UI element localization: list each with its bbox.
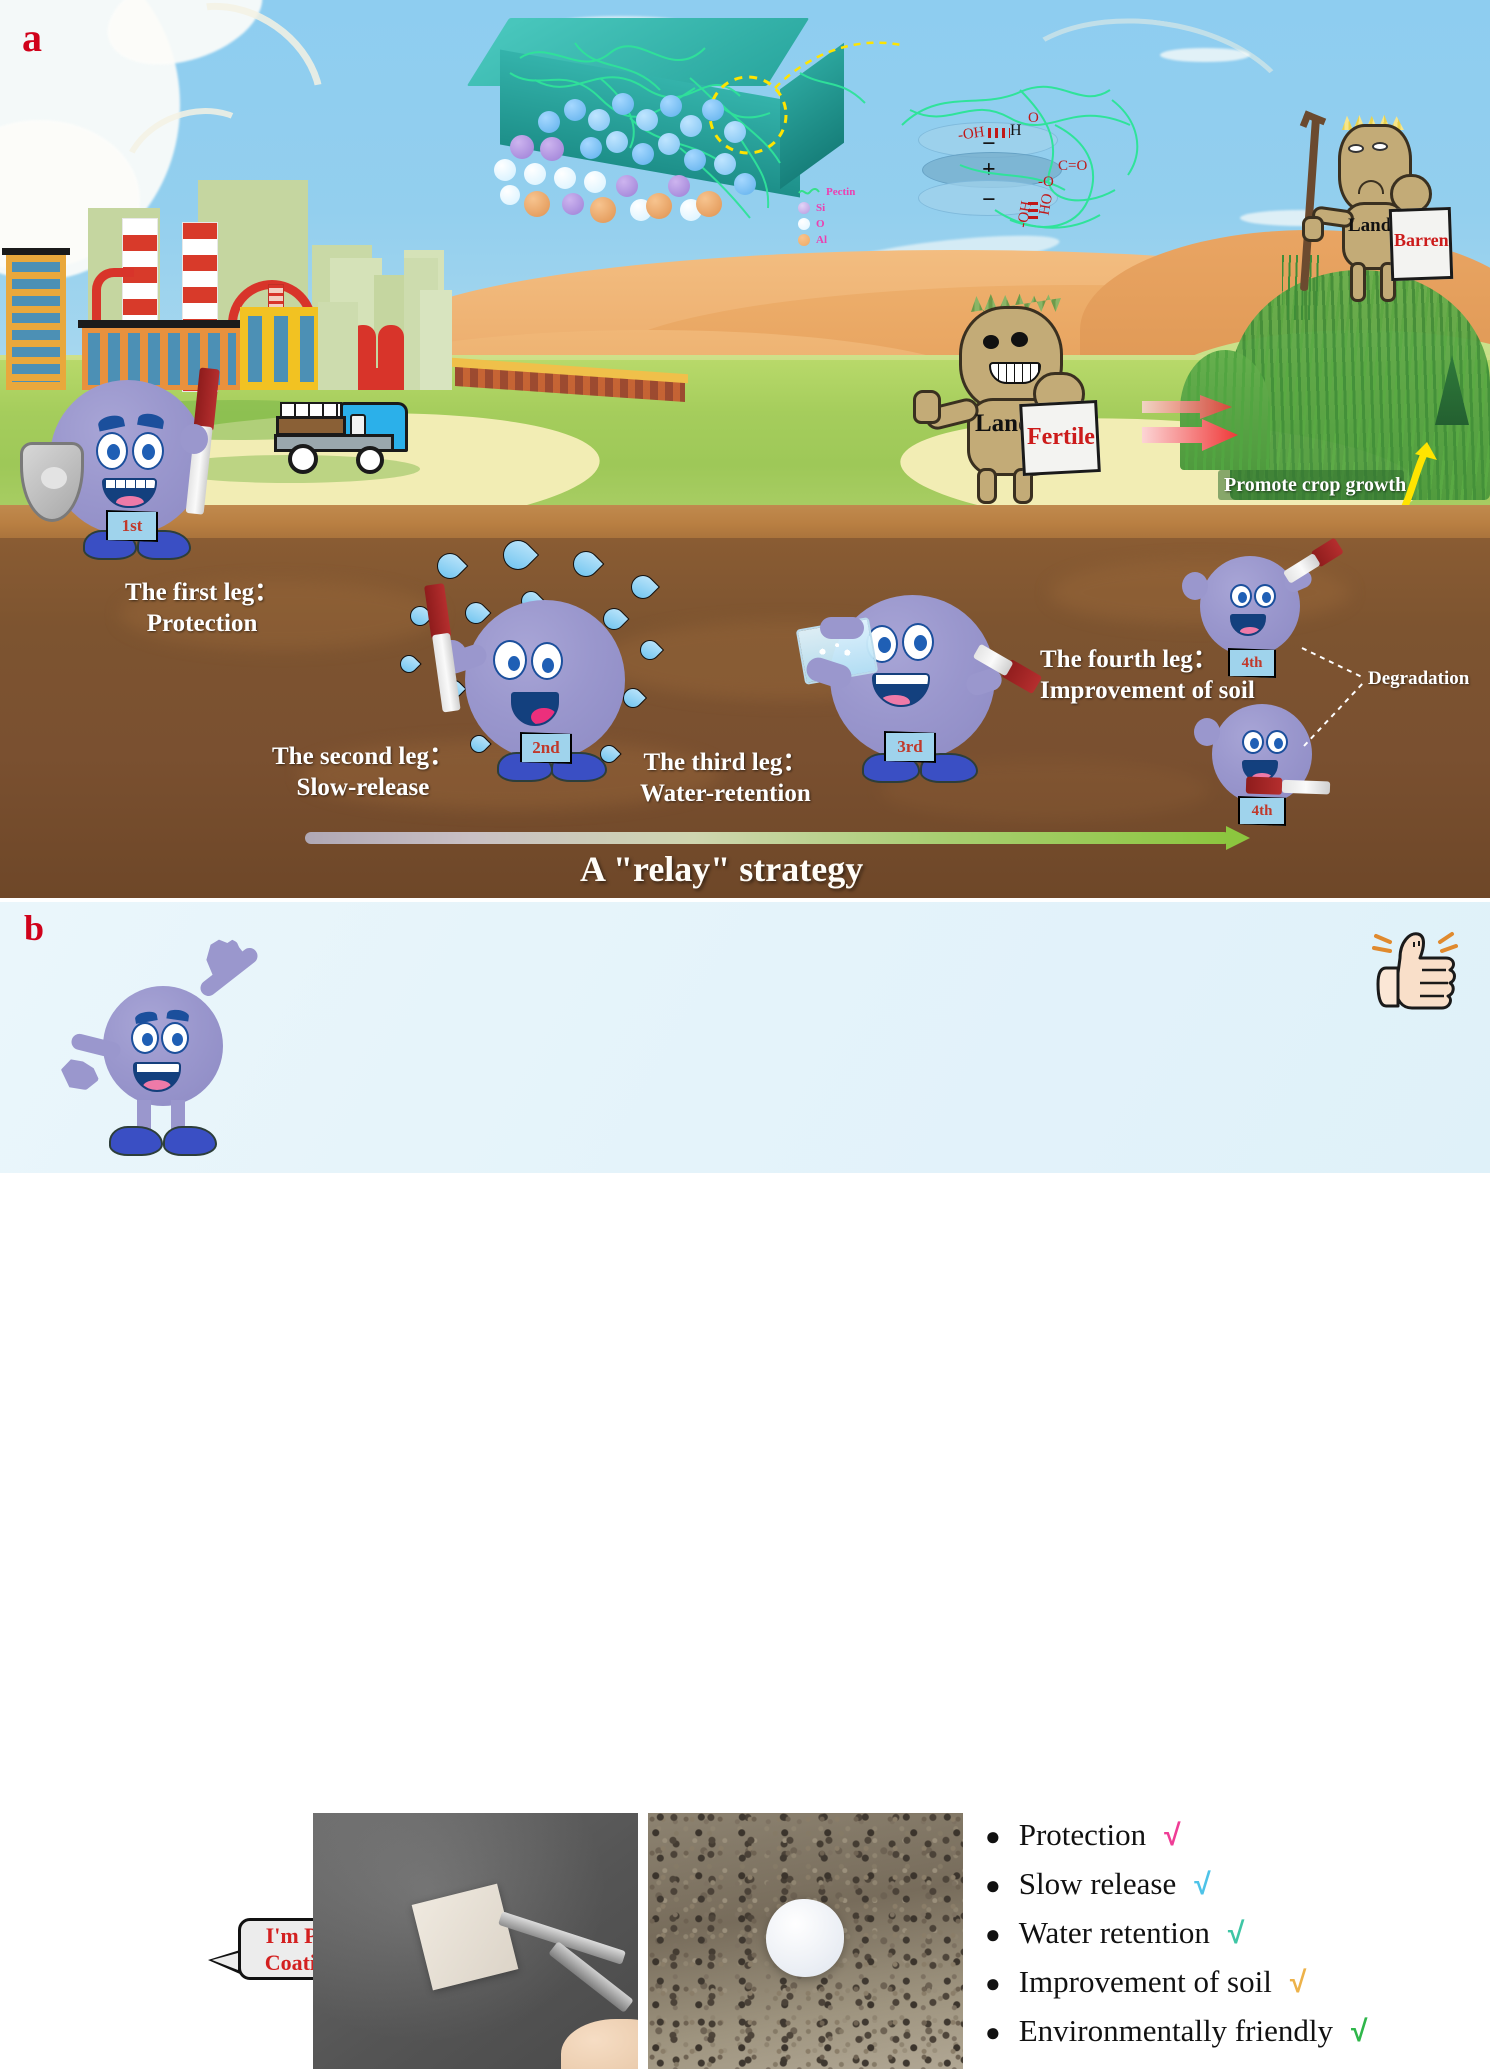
leg-flag-1st: 1st: [106, 510, 158, 542]
thumbs-up-svg: [1360, 922, 1470, 1032]
truck-cargo-boxes: [280, 402, 342, 418]
legend-row-al: Al: [798, 234, 827, 246]
mascot-pupil-left: [878, 637, 891, 653]
fertile-thumbs-up-hand: [913, 390, 941, 424]
fertile-eye-left: [983, 335, 999, 349]
speech-bubble-tail-inner: [212, 1953, 238, 1970]
legend-label-si: Si: [816, 202, 825, 214]
mascot-tongue: [531, 708, 557, 726]
pectin-montmorillonite-block: Pectin Si O Al: [480, 18, 900, 268]
feature-label: Slow release: [1019, 1866, 1177, 1902]
chem-label-h: H: [1010, 122, 1022, 140]
circle-orange-icon: [798, 234, 810, 246]
panel-b: b I'm PM Coating: [0, 900, 1490, 1173]
mascot-pupil-right: [1262, 592, 1271, 603]
degradation-connector: [1300, 630, 1420, 760]
barren-hand-left: [1302, 216, 1324, 242]
inset-pectin-svg: [900, 70, 1150, 260]
atom-cluster: [480, 63, 770, 243]
barren-leg-left: [1350, 262, 1366, 302]
fertilizer-pen-icon-broken: [1246, 777, 1333, 798]
feature-label: Protection: [1019, 1817, 1146, 1853]
coated-granule-soil-photo: [648, 1813, 963, 2069]
relay-strategy-title: A "relay" strategy: [580, 848, 863, 890]
mascot-pupil-left: [508, 656, 520, 671]
check-icon: √: [1351, 2015, 1367, 2049]
shield-emblem: [41, 467, 67, 489]
second-leg-line1: The second leg：: [272, 742, 454, 773]
mascot-pm-coating: [55, 934, 295, 1169]
cloud-right-1: [1160, 48, 1250, 62]
barren-sign-text: Barren: [1394, 230, 1449, 251]
skyline-pale-3: [420, 290, 452, 390]
fertile-eye-right: [1011, 332, 1028, 347]
building-yellow-windows: [12, 262, 60, 382]
building-yellow-roof: [2, 248, 70, 255]
pink-transition-arrows: [1140, 395, 1260, 465]
mascot-teeth: [106, 480, 157, 488]
barren-staff: [1300, 116, 1320, 291]
mascot-pupil-right: [142, 444, 155, 460]
coating-film-tweezers-photo: [313, 1813, 638, 2069]
mascot-shoe-left: [109, 1126, 163, 1156]
leg-flag-3rd: 3rd: [884, 731, 936, 763]
second-leg-label: The second leg： Slow-release: [272, 742, 454, 803]
land-fertile-character: Land Fertile: [905, 290, 1135, 505]
chem-hbond-dashes: [988, 128, 1010, 138]
list-item: ● Improvement of soil √: [985, 1964, 1367, 2013]
feature-label: Water retention: [1019, 1915, 1210, 1951]
delivery-truck: [252, 394, 412, 476]
chem-label-o-lower: -O: [1038, 174, 1054, 191]
mascot-thumbs-up-hand: [1194, 718, 1220, 746]
mascot-pupil-left: [1238, 592, 1247, 603]
list-item: ● Environmentally friendly √: [985, 2013, 1367, 2062]
bullet-icon: ●: [985, 1873, 1001, 1899]
feature-label: Environmentally friendly: [1019, 2013, 1333, 2049]
mascot-pupil-left: [1250, 738, 1259, 749]
mascot-hand-left: [61, 1056, 99, 1090]
relay-arrow-bar: [305, 832, 1230, 844]
circle-white-icon: [798, 218, 810, 230]
bullet-icon: ●: [985, 1922, 1001, 1948]
mascot-pupil-left: [142, 1033, 153, 1046]
mascot-pupil-right: [172, 1033, 183, 1046]
thumbs-up-icon: [1360, 922, 1470, 1032]
check-icon: √: [1290, 1966, 1306, 2000]
mascot-pupil-right: [914, 635, 927, 651]
mascot-third-leg: 3rd: [780, 595, 1020, 800]
list-item: ● Water retention √: [985, 1915, 1367, 1964]
mascot-pupil-left: [107, 444, 120, 460]
relay-arrow-head: [1226, 826, 1250, 850]
first-leg-label: The first leg： Protection: [125, 578, 279, 639]
second-leg-line2: Slow-release: [272, 773, 454, 804]
legend-row-pectin: Pectin: [798, 186, 855, 198]
leg-flag-4th-lower: 4th: [1238, 796, 1286, 826]
panel-a-letter: a: [22, 18, 42, 58]
truck-wheel-rear: [288, 444, 318, 474]
first-leg-line1: The first leg：: [125, 578, 279, 609]
barren-staff-fork: [1300, 110, 1326, 133]
first-leg-line2: Protection: [125, 609, 279, 640]
degradation-label: Degradation: [1368, 668, 1469, 690]
mascot-teeth: [137, 1064, 181, 1072]
mascot-first-leg: 1st: [20, 380, 250, 570]
pectin-wave-icon: [798, 187, 820, 197]
barren-eye-left: [1348, 144, 1364, 153]
panel-b-letter: b: [24, 910, 44, 946]
mascot-pupil-right: [1274, 738, 1283, 749]
granule-sphere: [766, 1899, 844, 1977]
land-barren-character: Land Barren: [1280, 112, 1490, 312]
mascot-thumbs-up-hand: [1182, 572, 1208, 600]
mascot-pupil-right: [542, 658, 554, 673]
bullet-icon: ●: [985, 1824, 1001, 1850]
legend-row-si: Si: [798, 202, 825, 214]
panel-a: Pectin Si O Al − + −: [0, 0, 1490, 898]
barren-eye-right: [1372, 142, 1388, 151]
list-item: ● Slow release √: [985, 1866, 1367, 1915]
fertile-leg-left: [977, 468, 997, 504]
figure-root: Pectin Si O Al − + −: [0, 0, 1490, 1173]
third-leg-line1: The third leg：: [640, 748, 811, 779]
mascot-hand-right: [180, 424, 208, 454]
legend-label-pectin: Pectin: [826, 186, 855, 198]
truck-wheel-front: [356, 446, 384, 474]
fourth-leg-label: The fourth leg： Improvement of soil: [1040, 645, 1255, 706]
leg-flag-1st-label: 1st: [122, 516, 143, 536]
highlight-leader: [775, 43, 900, 88]
leg-flag-2nd-label: 2nd: [532, 738, 559, 758]
mascot-hand-left-holding-glass: [820, 617, 864, 639]
chem-label-co: C=O: [1058, 158, 1087, 175]
legend-label-al: Al: [816, 234, 827, 246]
third-leg-label: The third leg： Water-retention: [640, 748, 811, 809]
leg-flag-4th-lower-label: 4th: [1252, 803, 1273, 820]
mascot-shoe-right: [163, 1126, 217, 1156]
building-orange-roof: [78, 320, 246, 328]
fourth-leg-line2: Improvement of soil: [1040, 676, 1255, 707]
circle-purple-icon: [798, 202, 810, 214]
check-icon: √: [1228, 1917, 1244, 1951]
check-icon: √: [1194, 1868, 1210, 1902]
legend-row-o: O: [798, 218, 825, 230]
fourth-leg-line1: The fourth leg：: [1040, 645, 1255, 676]
feature-list: ● Protection √ ● Slow release √ ● Water …: [985, 1817, 1367, 2062]
mascot-tongue: [116, 496, 144, 508]
yellow-growth-arrow: [1395, 440, 1455, 510]
barren-land-label: Land: [1348, 215, 1391, 237]
promote-crop-growth-label: Promote crop growth: [1224, 474, 1406, 497]
chem-label-o-upper: O: [1028, 110, 1039, 127]
interaction-mechanism-inset: − + − -OH H O C=O -O H: [900, 70, 1150, 260]
fertile-smile: [989, 362, 1041, 384]
chem-hbond-dashes-2: [1028, 202, 1038, 220]
feature-label: Improvement of soil: [1019, 1964, 1272, 2000]
skyline-pale-1: [318, 302, 358, 390]
leg-flag-2nd: 2nd: [520, 732, 572, 764]
bullet-icon: ●: [985, 2020, 1001, 2046]
truck-bed: [276, 416, 346, 436]
check-icon: √: [1164, 1819, 1180, 1853]
list-item: ● Protection √: [985, 1817, 1367, 1866]
bullet-icon: ●: [985, 1971, 1001, 1997]
third-leg-line2: Water-retention: [640, 779, 811, 810]
leg-flag-3rd-label: 3rd: [897, 737, 923, 757]
fertile-sign-text: Fertile: [1027, 424, 1095, 451]
mascot-teeth: [876, 675, 930, 684]
legend-label-o: O: [816, 218, 825, 230]
